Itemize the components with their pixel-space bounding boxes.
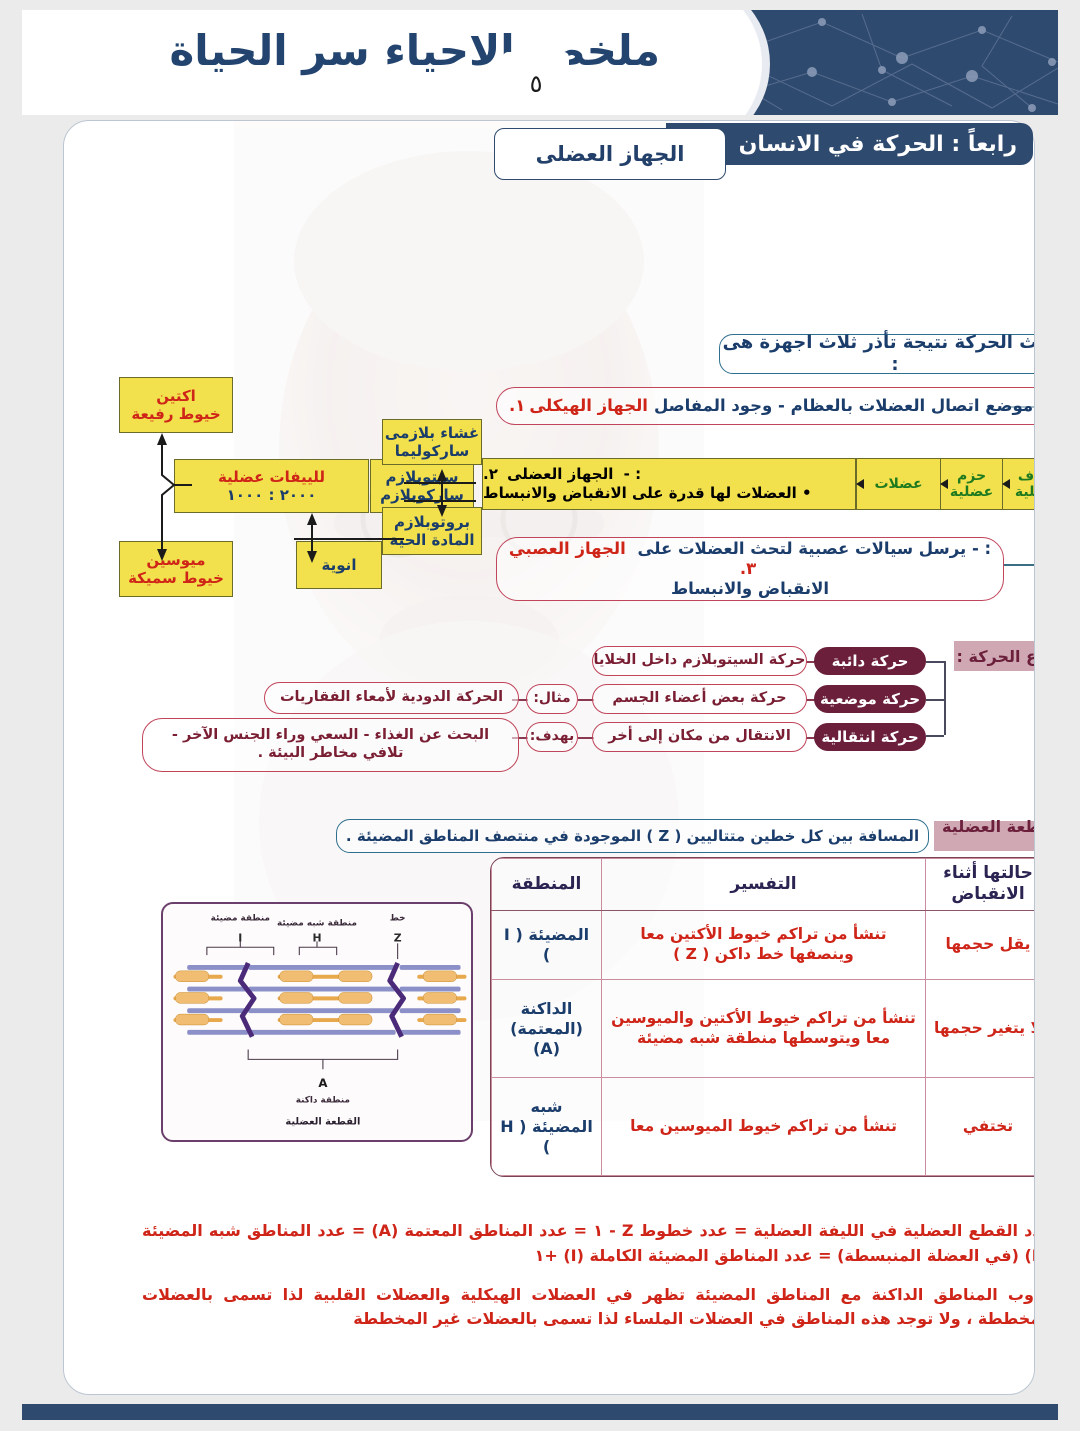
figure-label-dark: منطقة داكنة — [296, 1096, 350, 1106]
muscle-chain-fibers: الياف عضلية — [1002, 458, 1035, 510]
muscle-chain-bundles: حزم عضلية — [940, 458, 1002, 510]
movement-desc-2: حركة بعض أعضاء الجسم — [592, 684, 807, 714]
movement-branch-3 — [926, 735, 944, 737]
figure-label-semi: منطقة شبه مضيئة — [277, 919, 357, 929]
cell-explanation-1: تنشأ من تراكم خيوط الأكتين معا وينصفها خ… — [602, 910, 926, 980]
system-skeletal-name: الجهاز الهيكلى — [529, 396, 648, 416]
cell-state-3: تختفي — [926, 1078, 1036, 1176]
figure-letter-Z: Z — [394, 931, 402, 944]
muscle-chain-muscles-label: عضلات — [874, 476, 922, 492]
cell-state-2: لا يتغير حجمها — [926, 980, 1036, 1078]
movement-connector-label-2: مثال: — [526, 684, 578, 714]
movement-connector-label-3: بهدف: — [526, 722, 578, 752]
sarcomere-label: القطعة العضلية : — [934, 821, 1035, 851]
system-nervous-line2: الانقباض والانبساط — [671, 579, 829, 599]
table-row: يقل حجمها تنشأ من تراكم خيوط الأكتين معا… — [492, 910, 1036, 980]
cause-statement: تحدث الحركة نتيجة تأذر ثلاث اجهزة هى : — [719, 334, 1035, 374]
figure-label-zline: خط — [390, 914, 406, 924]
system-muscular-text: : - الجهاز العضلى ٢. • العضلات لها قدرة … — [482, 458, 856, 510]
system-nervous: : - يرسل سيالات عصبية لتحث العضلات على ا… — [496, 537, 1004, 601]
system-nervous-number: ٣. — [740, 559, 756, 578]
muscle-chain-bundles-label: حزم عضلية — [941, 468, 1002, 500]
movement-desc-1: حركة السيتوبلازم داخل الخلايا — [592, 646, 807, 676]
movement-connector-rail — [944, 661, 946, 735]
table-header-state: حالتها أثناء الانقباض — [926, 859, 1036, 911]
movement-detail-3-line2: تلافي مخاطر البيئة . — [258, 745, 404, 763]
sarcomere-diagram: منطقة مضيئة منطقة شبه مضيئة خط I H Z — [161, 902, 473, 1142]
note-item-2: • تناوب المناطق الداكنة مع المناطق المضي… — [142, 1283, 1035, 1333]
cell-state-1: يقل حجمها — [926, 910, 1036, 980]
movement-detail-3: البحث عن الغذاء - السعي وراء الجنس الآخر… — [142, 718, 519, 772]
movement-type-1: حركة دائبة — [814, 647, 926, 675]
footer-bar — [22, 1404, 1058, 1420]
movement-type-2: حركة موضعية — [814, 685, 926, 713]
arrow-left-icon — [1002, 479, 1010, 489]
cell-explanation-2: تنشأ من تراكم خيوط الأكتين والميوسين معا… — [602, 980, 926, 1078]
system-skeletal-desc: : - موضع اتصال العضلات بالعظام - وجود ال… — [654, 396, 1035, 416]
system-nervous-name: الجهاز العصبي — [509, 539, 626, 558]
cell-diagram-connectors — [104, 371, 504, 606]
movement-detail-3-line1: البحث عن الغذاء - السعي وراء الجنس الآخر… — [172, 727, 489, 745]
movement-type-3: حركة انتقالية — [814, 723, 926, 751]
systems-connector-branch-3 — [1004, 564, 1035, 566]
system-muscular-name: الجهاز العضلى — [507, 465, 613, 483]
table-row: تختفي تنشأ من تراكم خيوط الميوسين معا شب… — [492, 1078, 1036, 1176]
note-1-text: عدد القطع العضلية في الليفة العضلية = عد… — [142, 1219, 1035, 1269]
movement-detail-2: الحركة الدودية لأمعاء الفقاريات — [264, 682, 519, 714]
note-1-part2: (في العضلة المنبسطة) = عدد المناطق المضي… — [535, 1246, 1019, 1265]
system-muscular-desc: : - — [624, 465, 641, 483]
system-muscular-bullet: • العضلات لها قدرة على الانقباض والانبسا… — [483, 484, 812, 503]
system-nervous-desc: : - يرسل سيالات عصبية لتحث العضلات على — [638, 539, 992, 558]
note-2-text: تناوب المناطق الداكنة مع المناطق المضيئة… — [142, 1283, 1035, 1333]
arrow-left-icon — [856, 479, 864, 489]
page-number-badge: ٥ — [503, 52, 569, 115]
movement-branch-1 — [926, 661, 944, 663]
subsection-title-chip: الجهاز العضلى — [494, 128, 726, 180]
sarcomere-definition: المسافة بين كل خطين متتاليين ( Z ) الموج… — [336, 819, 929, 853]
page-title: ملخص الاحياء سر الحياة — [170, 26, 661, 75]
cell-zone-1: المضيئة ( I ) — [492, 910, 602, 980]
table-header-row: حالتها أثناء الانقباض التفسير المنطقة — [492, 859, 1036, 911]
figure-label-light: منطقة مضيئة — [211, 914, 270, 924]
figure-caption: القطعة العضلية — [285, 1116, 360, 1127]
system-nervous-line1: : - يرسل سيالات عصبية لتحث العضلات على ا… — [497, 539, 1003, 579]
cell-zone-2: الداكنة (المعتمة) (A) — [492, 980, 602, 1078]
movement-branch-2 — [926, 699, 944, 701]
arrow-left-icon — [940, 479, 948, 489]
movement-desc-3: الانتقال من مكان إلى أخر — [592, 722, 807, 752]
cell-explanation-3: تنشأ من تراكم خيوط الميوسين معا — [602, 1078, 926, 1176]
table-header-zone: المنطقة — [492, 859, 602, 911]
sarcomere-table: حالتها أثناء الانقباض التفسير المنطقة يق… — [490, 857, 1035, 1177]
worksheet-page: تحدث الحركة نتيجة تأذر ثلاث اجهزة هى : :… — [63, 120, 1035, 1395]
figure-letter-A: A — [318, 1076, 328, 1090]
table-row: لا يتغير حجمها تنشأ من تراكم خيوط الأكتي… — [492, 980, 1036, 1078]
note-item-1: • عدد القطع العضلية في الليفة العضلية = … — [142, 1219, 1035, 1269]
muscle-chain-muscles: عضلات — [856, 458, 940, 510]
system-muscular-title-row: : - الجهاز العضلى ٢. — [483, 465, 641, 484]
system-skeletal: : - موضع اتصال العضلات بالعظام - وجود ال… — [496, 387, 1035, 425]
movement-types-label: أنواع الحركة : — [954, 641, 1035, 671]
system-skeletal-number: ١. — [509, 396, 525, 416]
cell-zone-3: شبه المضيئة ( H ) — [492, 1078, 602, 1176]
system-muscular-strip: الياف عضلية حزم عضلية عضلات : - الجهاز ا… — [482, 458, 1035, 510]
table-header-explanation: التفسير — [602, 859, 926, 911]
notes-list: • عدد القطع العضلية في الليفة العضلية = … — [142, 1219, 1035, 1346]
